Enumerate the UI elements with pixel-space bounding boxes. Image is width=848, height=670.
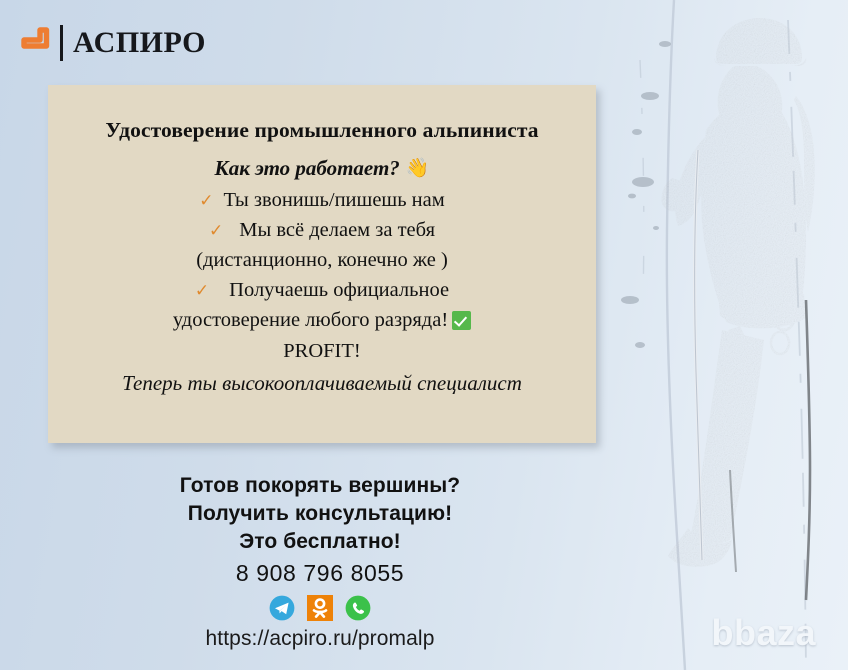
card-title: Удостоверение промышленного альпиниста [62, 117, 582, 144]
cta-block: Готов покорять вершины? Получить консуль… [60, 472, 580, 651]
phone-number[interactable]: 8 908 796 8055 [60, 558, 580, 589]
check-tick-icon: ✓ [209, 222, 223, 239]
cta-line-1: Готов покорять вершины? [60, 472, 580, 500]
brand-name: АСПИРО [73, 28, 206, 58]
list-item-continued: удостоверение любого разряда! [62, 307, 582, 334]
list-item-label: Получаешь официальное [229, 277, 449, 304]
list-item-label: Мы всё делаем за тебя [239, 217, 435, 244]
list-item: ✓ Мы всё делаем за тебя [62, 217, 582, 244]
logo-divider [60, 25, 63, 61]
orange-arrow-logo-icon [18, 24, 56, 62]
closing-label: Теперь ты высокооплачиваемый специалист [62, 370, 582, 397]
list-item-continued-label: удостоверение любого разряда! [173, 307, 448, 334]
green-check-icon [452, 311, 471, 330]
site-url[interactable]: https://acpiro.ru/promalp [60, 627, 580, 651]
list-item-label: Ты звонишь/пишешь нам [224, 187, 445, 214]
card-subtitle: Как это работает? 👋 [62, 156, 582, 181]
cta-line-2: Получить консультацию! [60, 500, 580, 528]
check-tick-icon: ✓ [199, 192, 213, 209]
social-links [60, 595, 580, 621]
whatsapp-icon[interactable] [345, 595, 371, 621]
waving-hand-icon: 👋 [406, 159, 430, 178]
list-item-note: (дистанционно, конечно же ) [62, 247, 582, 274]
card-subtitle-text: Как это работает? [215, 156, 400, 181]
brand-bar: АСПИРО [18, 22, 206, 64]
odnoklassniki-icon[interactable] [307, 595, 333, 621]
profit-label: PROFIT! [62, 338, 582, 365]
climber-photo [610, 0, 848, 670]
list-item: ✓ Ты звонишь/пишешь нам [62, 187, 582, 214]
info-card: Удостоверение промышленного альпиниста К… [48, 85, 596, 443]
telegram-icon[interactable] [269, 595, 295, 621]
check-tick-icon: ✓ [195, 282, 209, 299]
list-item: ✓ Получаешь официальное [62, 277, 582, 304]
promo-poster: АСПИРО [0, 0, 848, 670]
watermark: bbaza [711, 612, 816, 654]
cta-line-3: Это бесплатно! [60, 528, 580, 556]
